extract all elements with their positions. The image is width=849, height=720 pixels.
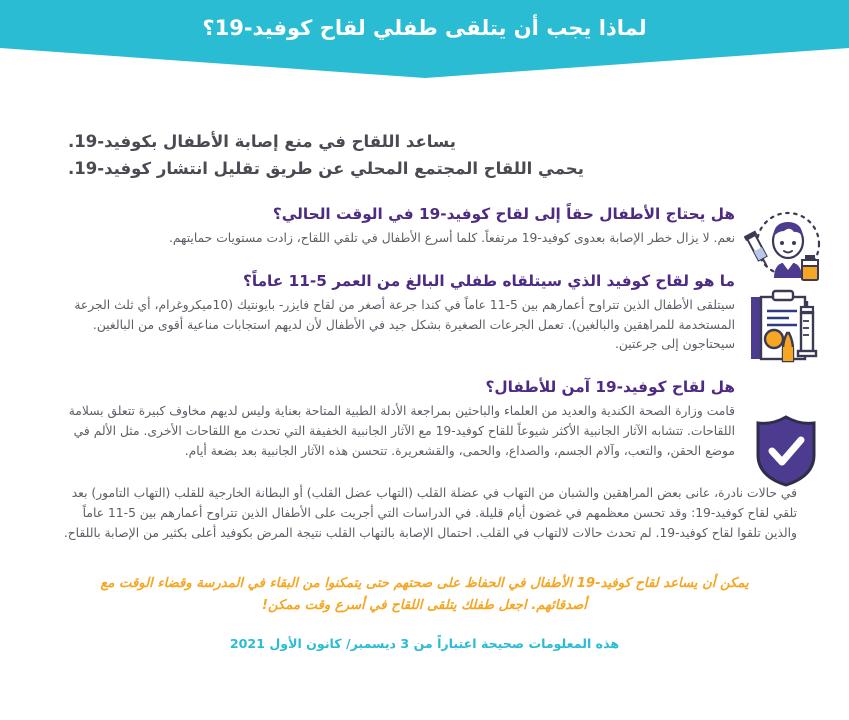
page-title: لماذا يجب أن يتلقى طفلي لقاح كوفيد-19؟ [202,16,646,41]
faq-section-4: في حالات نادرة، عانى بعض المراهقين والشب… [22,484,827,544]
footer-call-to-action: يمكن أن يساعد لقاح كوفيد-19 الأطفال في ا… [82,573,767,616]
intro-line-1: يساعد اللقاح في منع إصابة الأطفال بكوفيد… [68,128,827,155]
faq-section-2: ما هو لقاح كوفيد الذي سيتلقاه طفلي البال… [22,271,827,355]
faq-heading-1: هل يحتاج الأطفال حقاً إلى لقاح كوفيد-19 … [52,204,735,225]
faq-heading-2: ما هو لقاح كوفيد الذي سيتلقاه طفلي البال… [52,271,735,292]
footer-date-note: هذه المعلومات صحيحة اعتباراً من 3 ديسمبر… [82,636,767,651]
intro-line-2: يحمي اللقاح المجتمع المحلي عن طريق تقليل… [68,155,827,182]
faq-body-1: نعم. لا يزال خطر الإصابة بعدوى كوفيد-19 … [52,229,735,249]
intro-block: يساعد اللقاح في منع إصابة الأطفال بكوفيد… [22,128,827,182]
faq-body-3: قامت وزارة الصحة الكندية والعديد من العل… [52,402,735,462]
footer-block: يمكن أن يساعد لقاح كوفيد-19 الأطفال في ا… [22,573,827,651]
faq-heading-3: هل لقاح كوفيد-19 آمن للأطفال؟ [52,377,735,398]
content-area: يساعد اللقاح في منع إصابة الأطفال بكوفيد… [0,128,849,651]
faq-body-4: في حالات نادرة، عانى بعض المراهقين والشب… [52,484,797,544]
faq-body-2: سيتلقى الأطفال الذين تتراوح أعمارهم بين … [52,296,735,356]
clipboard-syringe-icon [743,287,829,373]
faq-section-3: هل لقاح كوفيد-19 آمن للأطفال؟ قامت وزارة… [22,377,827,461]
faq-section-1: هل يحتاج الأطفال حقاً إلى لقاح كوفيد-19 … [22,204,827,249]
header-banner: لماذا يجب أن يتلقى طفلي لقاح كوفيد-19؟ [0,0,849,78]
